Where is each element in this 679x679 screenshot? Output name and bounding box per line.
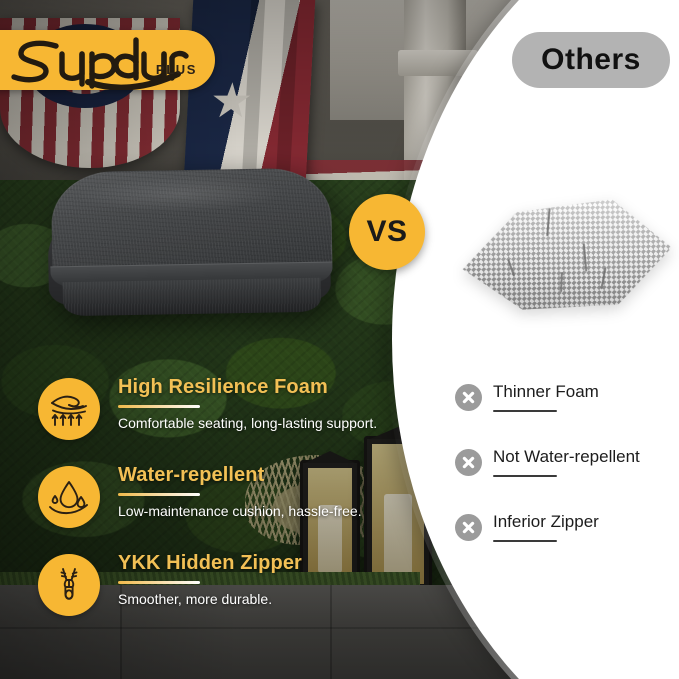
brand-logo-pill: PLUS bbox=[0, 30, 215, 90]
x-circle-icon bbox=[455, 384, 482, 411]
feature-list: High Resilience Foam Comfortable seating… bbox=[38, 374, 378, 638]
product-image-others-pillow bbox=[455, 196, 675, 312]
con-item-inferior-zipper: Inferior Zipper bbox=[455, 512, 670, 577]
con-divider-rule bbox=[493, 410, 557, 412]
con-divider-rule bbox=[493, 475, 557, 477]
feature-divider-rule bbox=[118, 581, 200, 584]
others-header-pill: Others bbox=[512, 32, 670, 88]
feature-title: YKK Hidden Zipper bbox=[118, 550, 378, 576]
feature-item-high-resilience-foam: High Resilience Foam Comfortable seating… bbox=[38, 374, 378, 462]
con-item-thinner-foam: Thinner Foam bbox=[455, 382, 670, 447]
feature-divider-rule bbox=[118, 405, 200, 408]
hand-foam-resilience-icon bbox=[38, 378, 100, 440]
feature-subtitle: Low-maintenance cushion, hassle-free. bbox=[118, 502, 378, 521]
cons-list: Thinner Foam Not Water-repellent bbox=[455, 382, 670, 577]
zipper-icon bbox=[38, 554, 100, 616]
feature-subtitle: Smoother, more durable. bbox=[118, 590, 378, 609]
con-divider-rule bbox=[493, 540, 557, 542]
feature-divider-rule bbox=[118, 493, 200, 496]
product-image-supdur-cushion bbox=[41, 165, 339, 320]
logo-plus-label: PLUS bbox=[156, 62, 197, 77]
others-label: Others bbox=[541, 43, 641, 77]
feature-item-water-repellent: Water-repellent Low-maintenance cushion,… bbox=[38, 462, 378, 550]
brand-logo: PLUS bbox=[0, 30, 215, 90]
con-item-not-water-repellent: Not Water-repellent bbox=[455, 447, 670, 512]
con-label: Not Water-repellent bbox=[493, 445, 670, 469]
feature-title: High Resilience Foam bbox=[118, 374, 378, 400]
con-label: Thinner Foam bbox=[493, 380, 670, 404]
vs-label: VS bbox=[366, 215, 407, 249]
con-label: Inferior Zipper bbox=[493, 510, 670, 534]
feature-title: Water-repellent bbox=[118, 462, 378, 488]
feature-subtitle: Comfortable seating, long-lasting suppor… bbox=[118, 414, 378, 433]
feature-item-ykk-hidden-zipper: YKK Hidden Zipper Smoother, more durable… bbox=[38, 550, 378, 638]
vs-badge: VS bbox=[349, 194, 425, 270]
comparison-infographic: PLUS Others VS bbox=[0, 0, 679, 679]
water-droplet-repellent-icon bbox=[38, 466, 100, 528]
x-circle-icon bbox=[455, 514, 482, 541]
supdur-wordmark-icon bbox=[0, 30, 215, 90]
x-circle-icon bbox=[455, 449, 482, 476]
